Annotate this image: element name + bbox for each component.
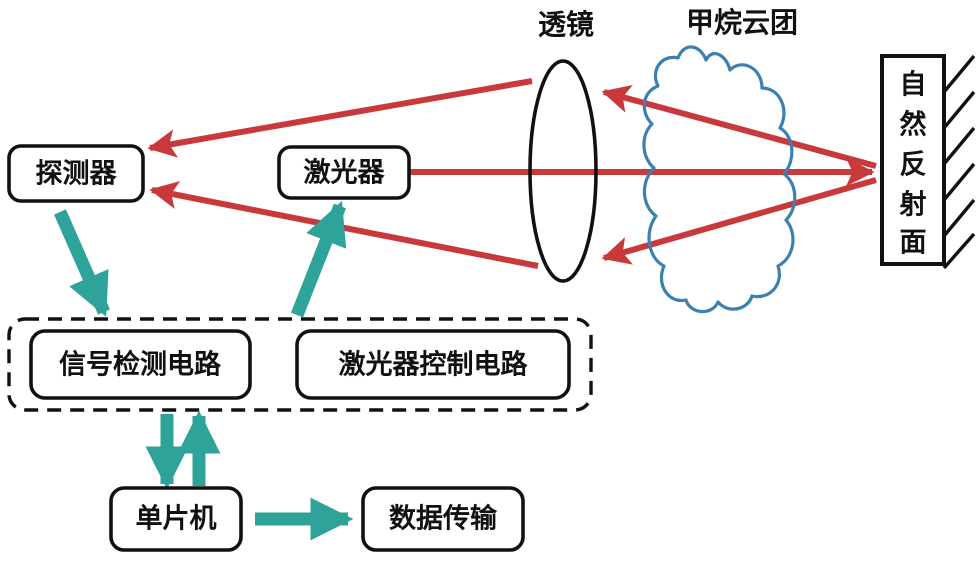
mcu-label: 单片机: [136, 504, 217, 535]
return-beam-lower-inner: [152, 190, 538, 266]
methane-detection-diagram: 自 然 反 射 面 透镜 甲烷云团 探测器 激光器: [0, 0, 976, 575]
methane-cloud-label: 甲烷云团: [686, 6, 798, 39]
data-transfer-label: 数据传输: [389, 503, 498, 535]
laser-control-circuit-label: 激光器控制电路: [339, 349, 529, 381]
reflector-char-1: 自: [900, 69, 927, 101]
natural-reflector-group: 自 然 反 射 面: [882, 56, 974, 268]
detector-to-signal-circuit-arrow: [60, 212, 104, 312]
beam-group: [150, 81, 876, 266]
methane-cloud-shape: [644, 47, 795, 312]
circuit-board-group: 信号检测电路 激光器控制电路: [9, 319, 591, 410]
reflector-char-2: 然: [900, 109, 927, 141]
reflector-char-4: 射: [899, 190, 927, 221]
signal-detection-circuit-node[interactable]: 信号检测电路: [31, 331, 250, 398]
reflector-char-3: 反: [900, 150, 927, 181]
reflector-char-5: 面: [900, 228, 927, 259]
diagram-canvas: 自 然 反 射 面 透镜 甲烷云团 探测器 激光器: [0, 0, 976, 575]
return-beam-upper-inner: [150, 81, 532, 148]
laser-label: 激光器: [304, 157, 386, 189]
lens-label: 透镜: [538, 8, 594, 41]
data-transfer-node[interactable]: 数据传输: [363, 488, 523, 550]
detector-node[interactable]: 探测器: [9, 146, 143, 201]
reflector-label-stack: 自 然 反 射 面: [899, 69, 927, 259]
mcu-node[interactable]: 单片机: [111, 488, 241, 550]
reflector-hatching: [944, 56, 974, 268]
laser-control-circuit-node[interactable]: 激光器控制电路: [297, 331, 569, 398]
laser-node[interactable]: 激光器: [279, 147, 409, 198]
detector-label: 探测器: [36, 159, 118, 190]
signal-detection-circuit-label: 信号检测电路: [59, 349, 222, 381]
